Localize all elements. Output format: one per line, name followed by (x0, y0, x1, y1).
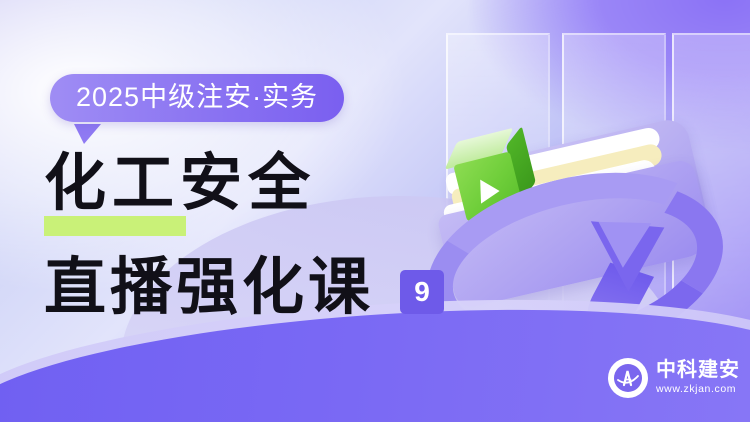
badge-tail (74, 124, 101, 144)
title-line-2: 直播强化课 (44, 256, 374, 318)
logo-text: 中科建安 www.zkjan.com (656, 359, 740, 397)
logo-name: 中科建安 (656, 359, 740, 381)
episode-number-badge: 9 (400, 270, 444, 314)
course-badge: 2025中级注安·实务 (50, 74, 344, 122)
brand-logo: 中科建安 www.zkjan.com (608, 358, 740, 398)
logo-url: www.zkjan.com (656, 383, 740, 397)
promo-banner: 2025中级注安·实务 化工安全 直播强化课 9 中科建安 www.zkjan.… (0, 0, 750, 422)
title-highlight-bar (44, 216, 186, 236)
title-line-1: 化工安全 (44, 152, 316, 214)
logo-mark-icon (608, 358, 648, 398)
